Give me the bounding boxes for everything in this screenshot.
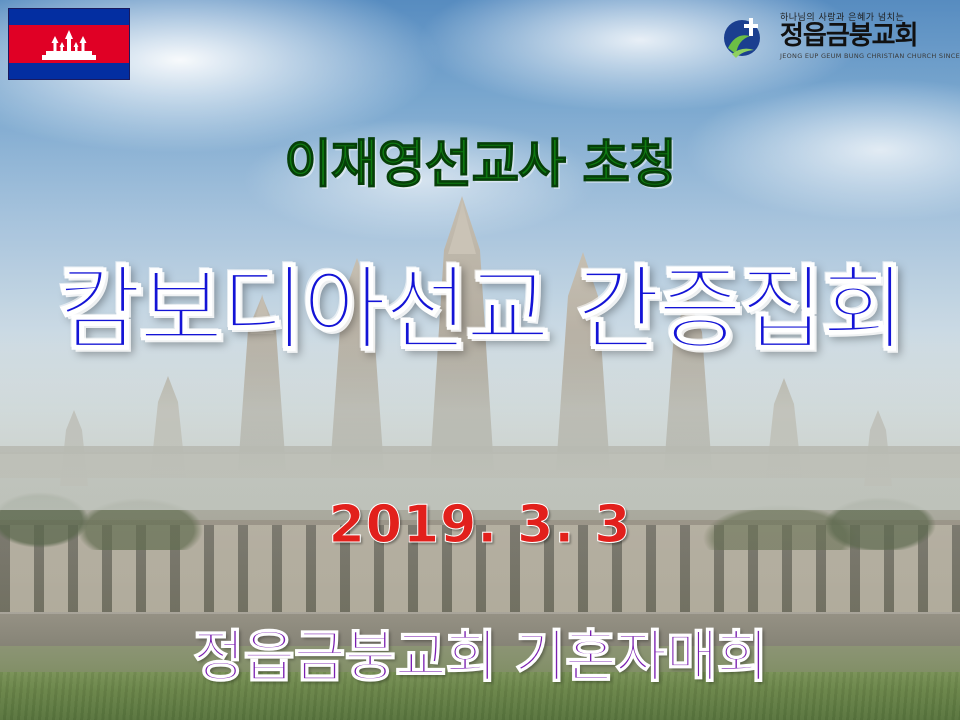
church-logo-text: 하나님의 사랑과 은혜가 넘치는 정읍금붕교회 JEONG EUP GEUM B… <box>780 10 948 60</box>
church-logo: 하나님의 사랑과 은혜가 넘치는 정읍금붕교회 JEONG EUP GEUM B… <box>718 8 948 76</box>
cambodia-flag-icon <box>8 8 130 80</box>
church-logo-subtitle: JEONG EUP GEUM BUNG CHRISTIAN CHURCH SIN… <box>780 52 948 60</box>
church-cross-icon <box>718 14 774 70</box>
poster-slide: 하나님의 사랑과 은혜가 넘치는 정읍금붕교회 JEONG EUP GEUM B… <box>0 0 960 720</box>
host-organization: 정읍금붕교회 기혼자매회 <box>0 612 960 693</box>
invite-line: 이재영선교사 초청 <box>0 122 960 197</box>
church-logo-name: 정읍금붕교회 <box>780 23 948 50</box>
angkor-wat-flag-emblem <box>38 28 100 62</box>
event-date: 2019. 3. 3 <box>0 495 960 555</box>
poster-title: 캄보디아선교 간증집회 <box>0 235 960 368</box>
